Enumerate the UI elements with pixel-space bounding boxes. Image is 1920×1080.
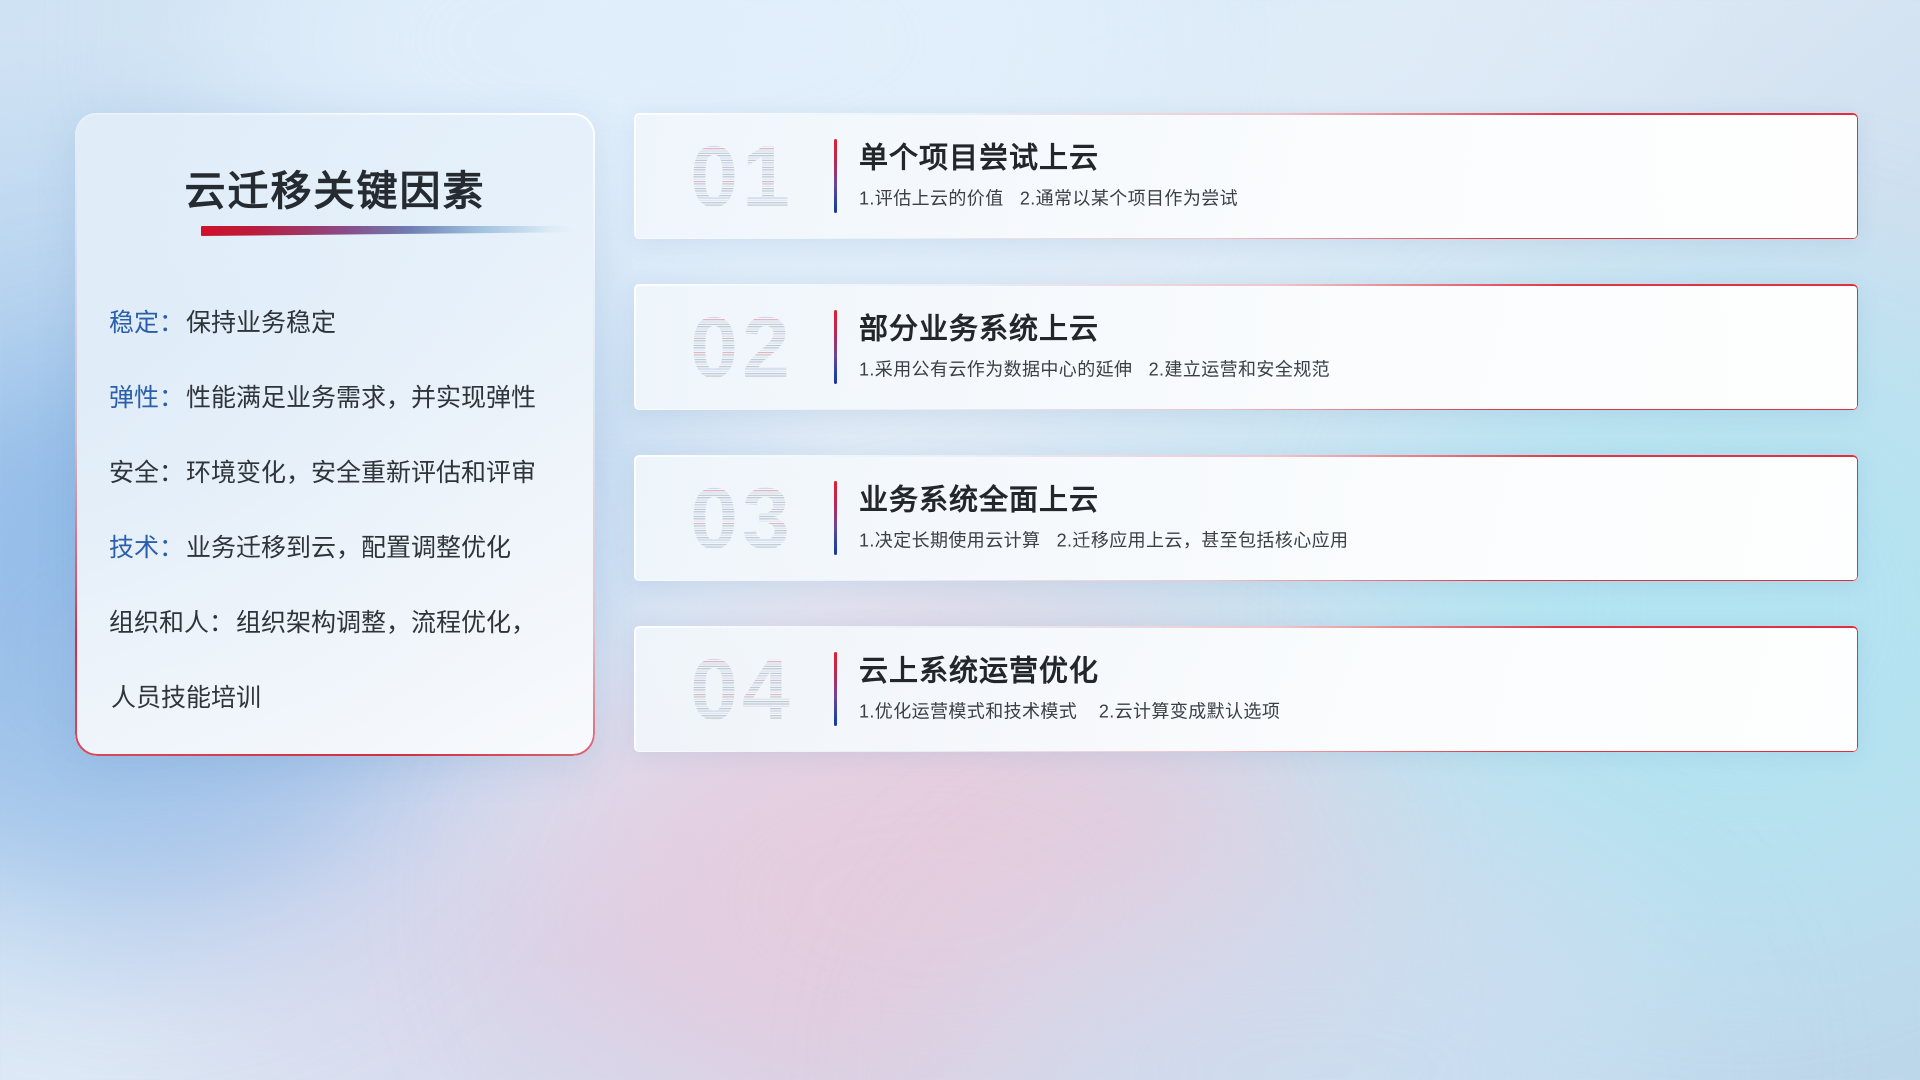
panel-title: 云迁移关键因素: [75, 157, 595, 217]
step-card-body: 业务系统全面上云1.决定长期使用云计算 2.迁移应用上云，甚至包括核心应用: [859, 483, 1832, 554]
accent-bar: [834, 310, 837, 384]
key-factors-panel: 云迁移关键因素 稳定：保持业务稳定弹性：性能满足业务需求，并实现弹性安全：环境变…: [75, 113, 595, 756]
step-number-watermark: 03: [662, 472, 822, 564]
accent-bar: [834, 139, 837, 213]
factor-text: 组织架构调整，流程优化，: [236, 611, 536, 636]
step-card-title: 部分业务系统上云: [859, 312, 1832, 348]
factor-label: 稳定：: [109, 311, 184, 336]
factor-row: 技术：业务迁移到云，配置调整优化: [109, 536, 573, 561]
title-underline-accent: [201, 226, 575, 236]
factor-text: 人员技能培训: [111, 686, 261, 711]
factor-label: 安全：: [109, 461, 184, 486]
accent-bar: [834, 652, 837, 726]
factor-label: 弹性：: [109, 386, 184, 411]
step-number-watermark: 02: [662, 301, 822, 393]
factor-label: 组织和人：: [109, 611, 234, 636]
accent-bar: [834, 481, 837, 555]
maturity-steps-list: 01单个项目尝试上云1.评估上云的价值 2.通常以某个项目作为尝试02部分业务系…: [634, 113, 1858, 752]
step-card-description: 1.采用公有云作为数据中心的延伸 2.建立运营和安全规范: [859, 359, 1832, 382]
step-number-watermark: 04: [662, 643, 822, 735]
step-card[interactable]: 04云上系统运营优化1.优化运营模式和技术模式 2.云计算变成默认选项: [634, 626, 1858, 752]
factor-text: 业务迁移到云，配置调整优化: [186, 536, 511, 561]
step-card-body: 云上系统运营优化1.优化运营模式和技术模式 2.云计算变成默认选项: [859, 654, 1832, 725]
step-card-title: 单个项目尝试上云: [859, 141, 1832, 177]
step-card-description: 1.评估上云的价值 2.通常以某个项目作为尝试: [859, 188, 1832, 211]
step-card-description: 1.决定长期使用云计算 2.迁移应用上云，甚至包括核心应用: [859, 530, 1832, 553]
step-card-description: 1.优化运营模式和技术模式 2.云计算变成默认选项: [859, 701, 1832, 724]
factor-row: 稳定：保持业务稳定: [109, 311, 573, 336]
step-card-title: 云上系统运营优化: [859, 654, 1832, 690]
step-number-watermark: 01: [662, 130, 822, 222]
factor-label: 技术：: [109, 536, 184, 561]
step-card-body: 部分业务系统上云1.采用公有云作为数据中心的延伸 2.建立运营和安全规范: [859, 312, 1832, 383]
step-card[interactable]: 02部分业务系统上云1.采用公有云作为数据中心的延伸 2.建立运营和安全规范: [634, 284, 1858, 410]
step-card[interactable]: 03业务系统全面上云1.决定长期使用云计算 2.迁移应用上云，甚至包括核心应用: [634, 455, 1858, 581]
factor-row: 组织和人：组织架构调整，流程优化，: [109, 611, 573, 636]
step-card-title: 业务系统全面上云: [859, 483, 1832, 519]
factor-row: 弹性：性能满足业务需求，并实现弹性: [109, 386, 573, 411]
slide-canvas: 云迁移关键因素 稳定：保持业务稳定弹性：性能满足业务需求，并实现弹性安全：环境变…: [0, 0, 1920, 1080]
factor-row: 人员技能培训: [109, 686, 573, 711]
factor-text: 保持业务稳定: [186, 311, 336, 336]
factor-text: 性能满足业务需求，并实现弹性: [186, 386, 536, 411]
factor-list: 稳定：保持业务稳定弹性：性能满足业务需求，并实现弹性安全：环境变化，安全重新评估…: [109, 311, 573, 711]
factor-row: 安全：环境变化，安全重新评估和评审: [109, 461, 573, 486]
step-card[interactable]: 01单个项目尝试上云1.评估上云的价值 2.通常以某个项目作为尝试: [634, 113, 1858, 239]
factor-text: 环境变化，安全重新评估和评审: [186, 461, 536, 486]
step-card-body: 单个项目尝试上云1.评估上云的价值 2.通常以某个项目作为尝试: [859, 141, 1832, 212]
